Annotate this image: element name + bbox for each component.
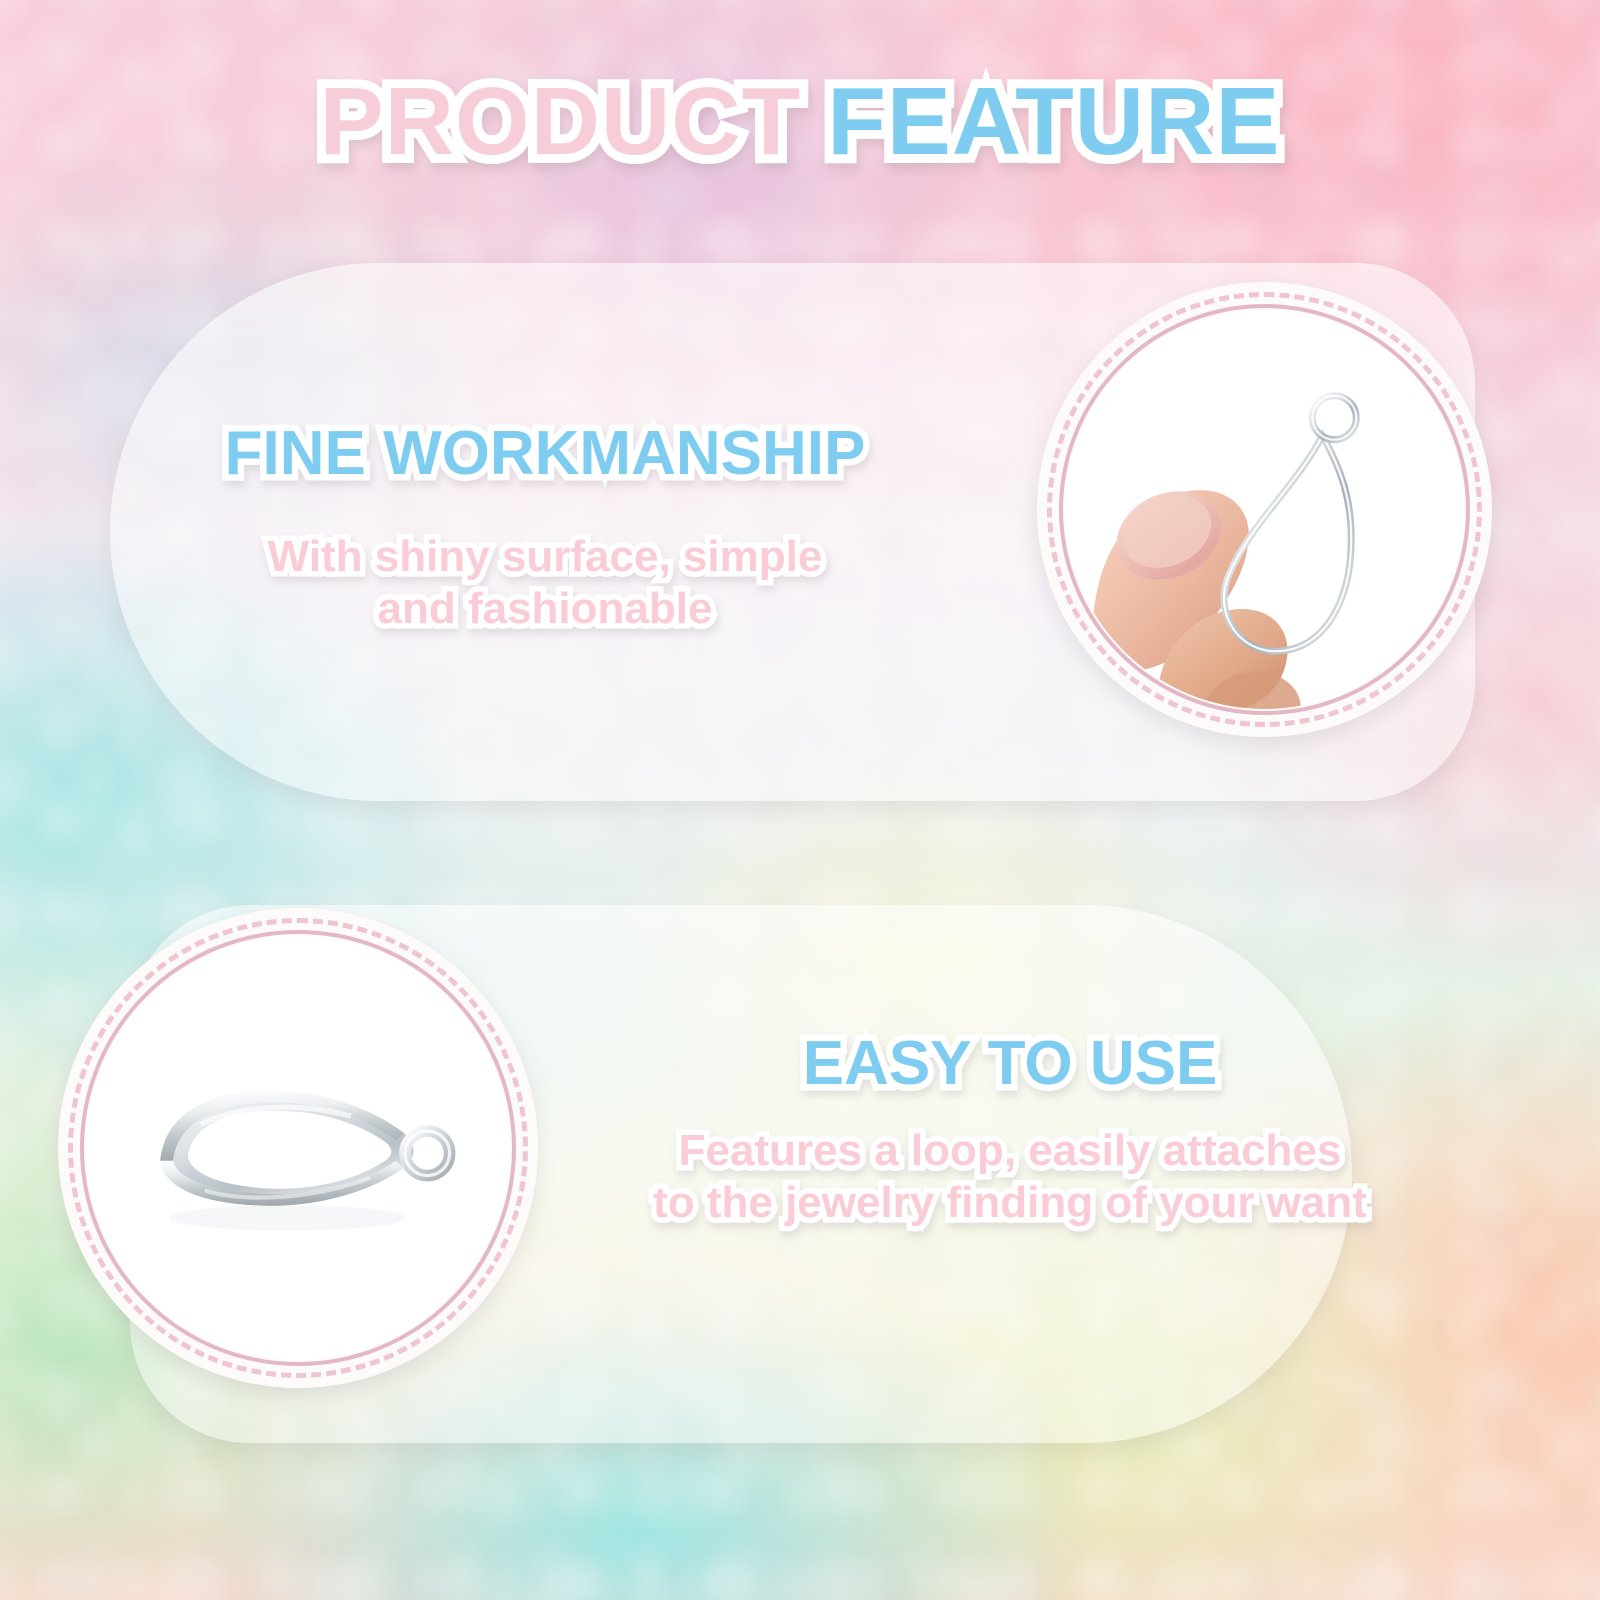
feature-body-2-line-1: Features a loop, easily attaches — [560, 1125, 1460, 1177]
product-photo-2 — [86, 936, 510, 1360]
feature-headline-2: EASY TO USE — [560, 1028, 1460, 1099]
feature-body-2-line-2: to the jewelry finding of your want — [560, 1177, 1460, 1229]
product-photo-circle-1 — [1037, 282, 1492, 737]
page-title-word-product: PRODUCT — [320, 74, 802, 170]
product-photo-1 — [1065, 310, 1464, 709]
infographic-canvas: PRODUCTFEATURE FINE WORKMANSHIP With shi… — [0, 0, 1600, 1600]
feature-headline-1: FINE WORKMANSHIP — [150, 418, 940, 489]
photo-teardrop-pendant-link — [86, 936, 510, 1360]
feature-body-1-line-2: and fashionable — [150, 583, 940, 635]
page-title: PRODUCTFEATURE — [0, 74, 1600, 170]
product-photo-circle-2 — [58, 908, 538, 1388]
page-title-word-feature: FEATURE — [827, 74, 1280, 170]
feature-text-block-2: EASY TO USE Features a loop, easily atta… — [560, 1028, 1460, 1229]
pendant-shadow — [169, 1205, 406, 1230]
photo-fingers-holding-pendant — [1065, 310, 1464, 709]
feature-body-2: Features a loop, easily attaches to the … — [560, 1125, 1460, 1229]
feature-body-1: With shiny surface, simple and fashionab… — [150, 531, 940, 635]
feature-body-1-line-1: With shiny surface, simple — [150, 531, 940, 583]
feature-text-block-1: FINE WORKMANSHIP With shiny surface, sim… — [150, 418, 940, 635]
